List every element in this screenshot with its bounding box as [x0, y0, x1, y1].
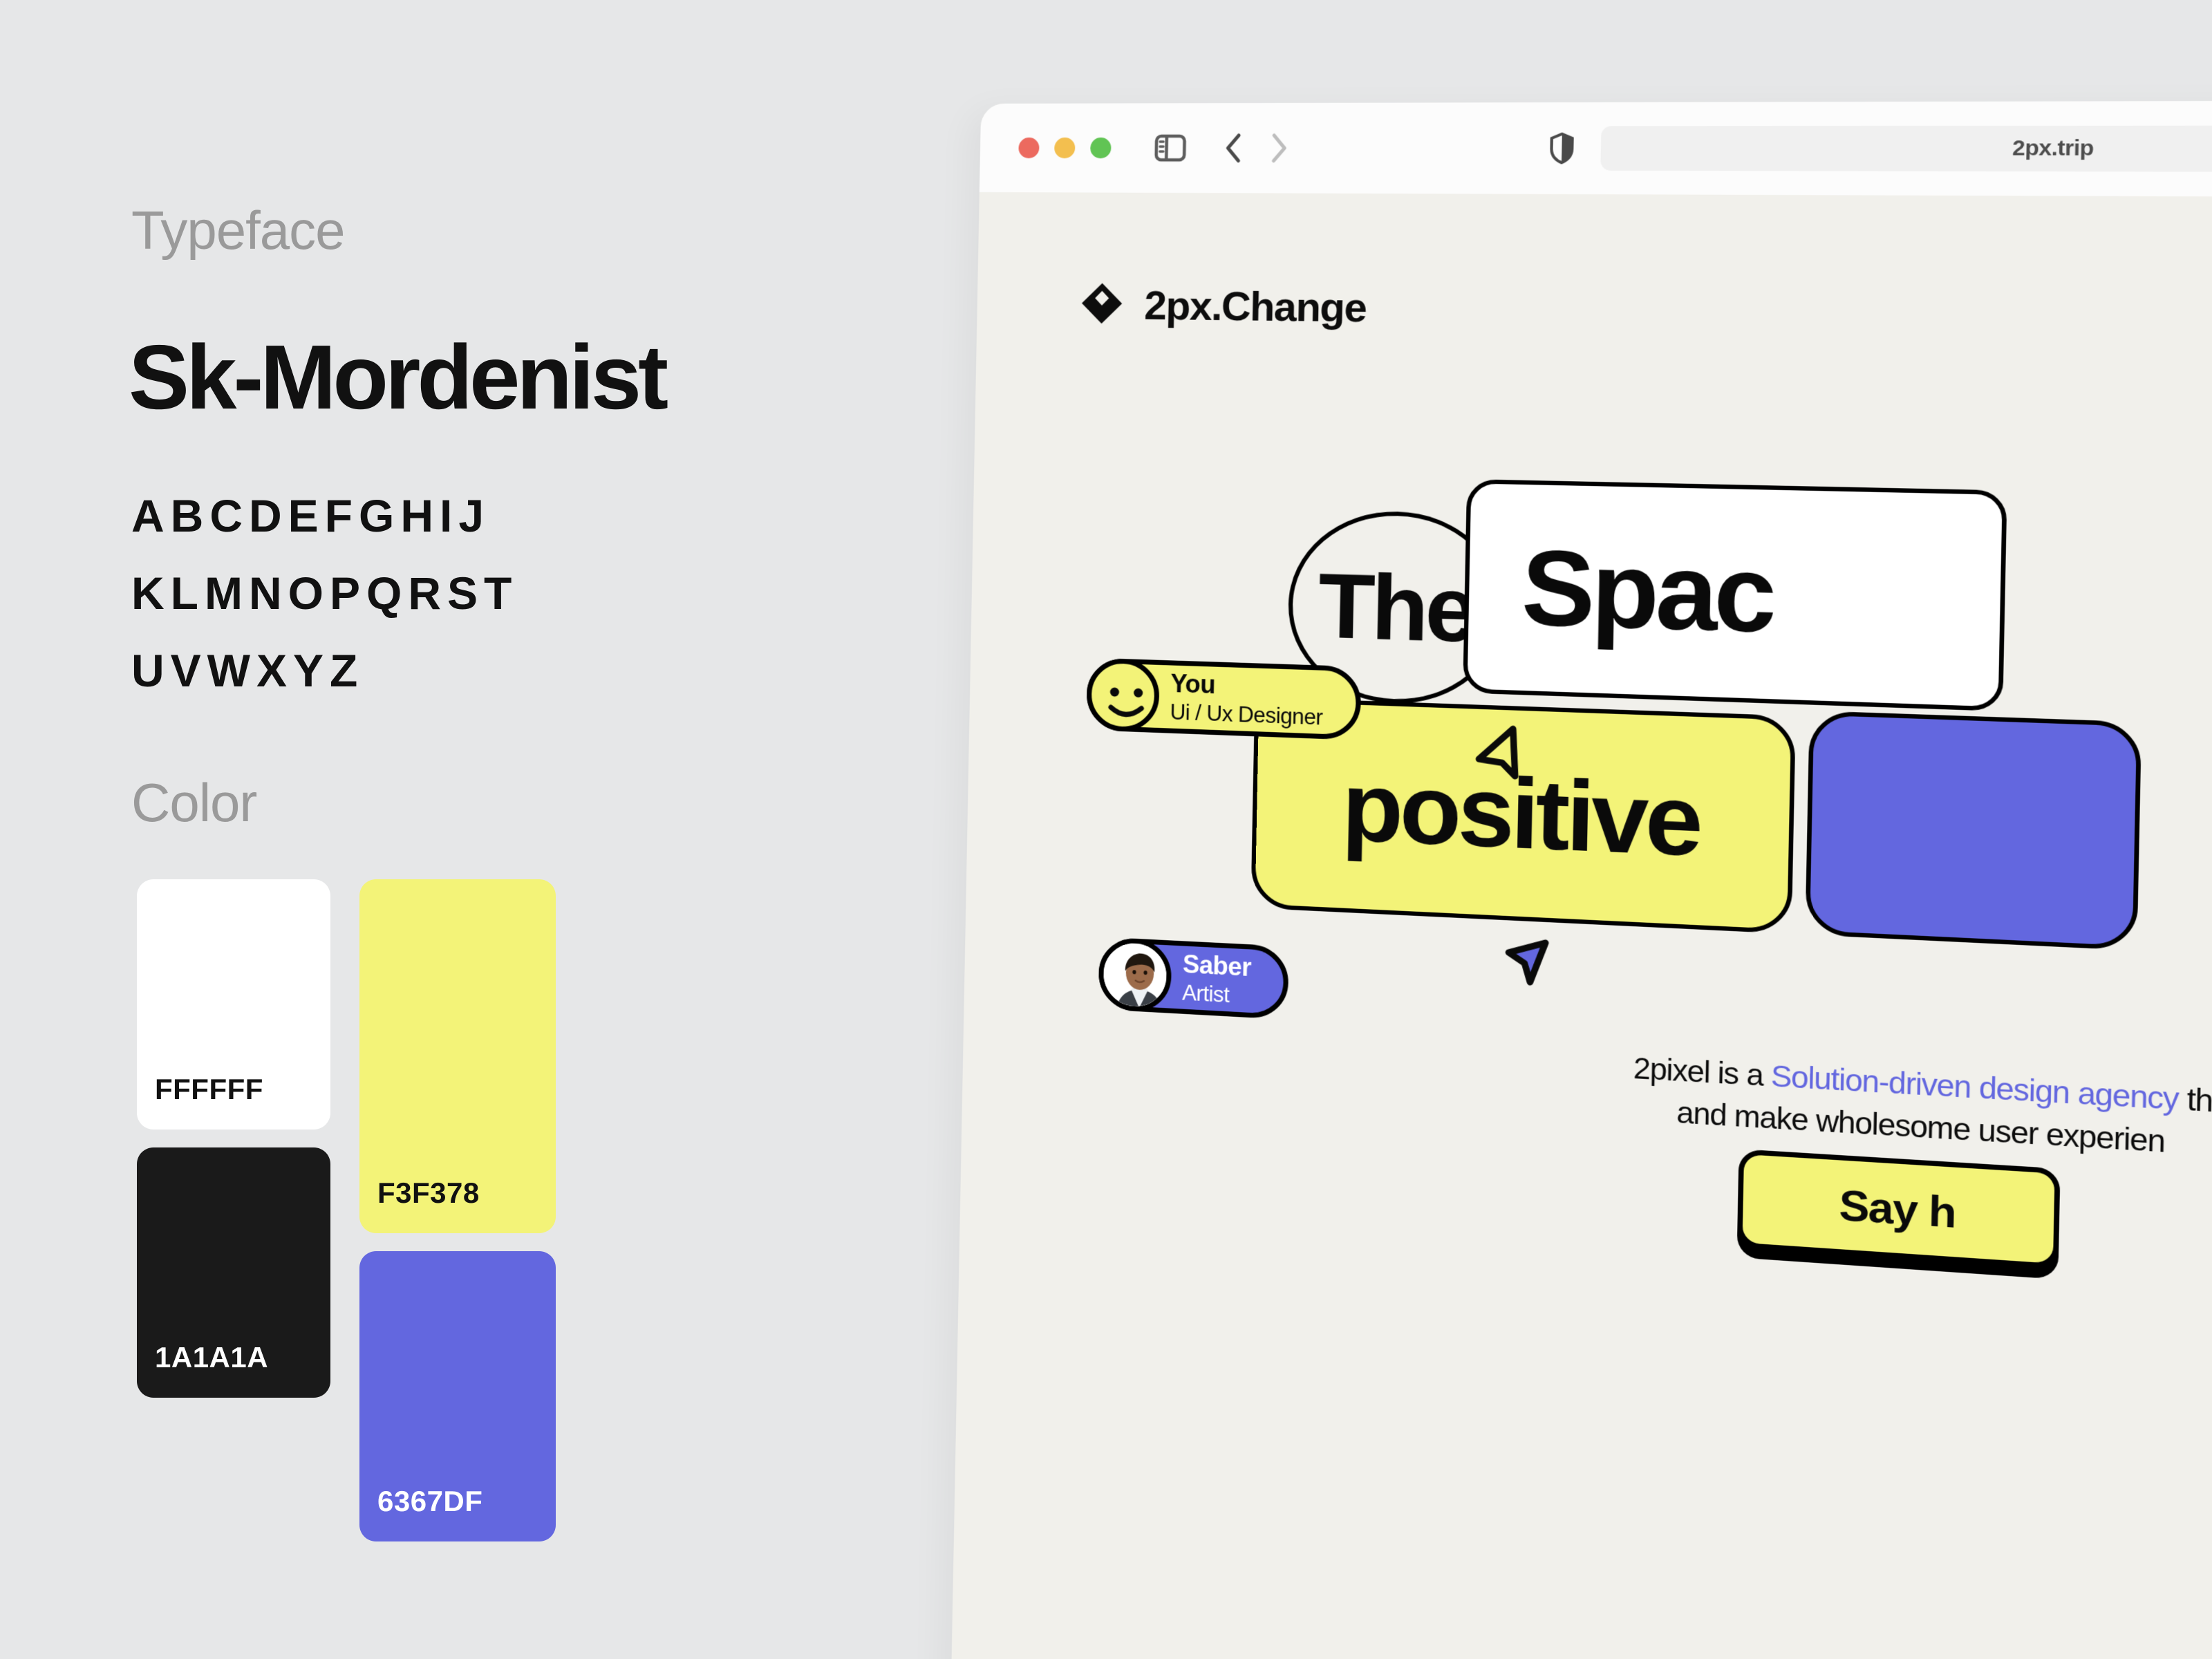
color-swatch-black[interactable]: 1A1A1A — [137, 1147, 330, 1398]
color-hex-label: F3F378 — [359, 1177, 480, 1233]
presence-badge-you[interactable]: You Ui / Ux Designer — [1086, 657, 1362, 740]
address-bar-url: 2px.trip — [2012, 136, 2094, 161]
alphabet-specimen: ABCDEFGHIJ KLMNOPQRST UVWXYZ — [131, 477, 892, 709]
zoom-window-button[interactable] — [1090, 138, 1112, 158]
presence-badge-role: Artist — [1182, 980, 1251, 1009]
traffic-lights — [1018, 138, 1111, 158]
presence-badge-name: You — [1170, 669, 1324, 704]
presence-badge-saber[interactable]: Saber Artist — [1098, 937, 1289, 1020]
hero-word-space: Spac — [1463, 479, 2007, 711]
color-section-label: Color — [131, 771, 256, 834]
cursor-pointer-saber-icon — [1485, 932, 1557, 1009]
alphabet-row: ABCDEFGHIJ — [131, 477, 892, 554]
style-guide-panel: Typeface Sk-Mordenist ABCDEFGHIJ KLMNOPQ… — [0, 0, 982, 1659]
sidebar-toggle-icon[interactable] — [1154, 134, 1186, 162]
alphabet-row: KLMNOPQRST — [131, 554, 892, 632]
color-hex-label: FFFFFF — [137, 1073, 263, 1130]
presence-badge-role: Ui / Ux Designer — [1170, 700, 1323, 731]
typeface-name: Sk-Mordenist — [129, 325, 665, 429]
web-page-content: 2px.Change Spac The positive You Ui / Ux… — [949, 192, 2212, 1659]
presence-badge-info: Saber Artist — [1182, 950, 1251, 1009]
tagline-lead: 2pixel is a — [1633, 1051, 1771, 1092]
nav-back-icon[interactable] — [1223, 132, 1245, 165]
color-hex-label: 6367DF — [359, 1485, 482, 1541]
address-bar[interactable]: 2px.trip — [1600, 125, 2212, 172]
minimize-window-button[interactable] — [1054, 138, 1076, 158]
alphabet-row: UVWXYZ — [131, 632, 892, 709]
hero-word-purple-block — [1805, 711, 2141, 950]
browser-window: 2px.trip 2px.Change Spac The positive — [949, 100, 2212, 1659]
tagline-tail: th — [2178, 1081, 2212, 1118]
color-swatch-yellow[interactable]: F3F378 — [359, 879, 556, 1233]
presence-badge-info: You Ui / Ux Designer — [1170, 669, 1323, 731]
typeface-section-label: Typeface — [131, 199, 345, 262]
shield-icon[interactable] — [1549, 133, 1575, 165]
presence-badge-name: Saber — [1183, 950, 1252, 983]
color-swatch-purple[interactable]: 6367DF — [359, 1251, 556, 1541]
color-swatch-grid: FFFFFF 1A1A1A F3F378 6367DF — [137, 879, 621, 1571]
browser-toolbar: 2px.trip — [980, 100, 2212, 198]
hero-word-cluster: Spac The positive — [949, 192, 2212, 1659]
cursor-pointer-you-icon — [1470, 722, 1537, 792]
color-swatch-white[interactable]: FFFFFF — [137, 879, 330, 1130]
nav-forward-icon[interactable] — [1268, 132, 1290, 165]
browser-mockup-stage: 2px.trip 2px.Change Spac The positive — [949, 100, 2212, 1659]
color-hex-label: 1A1A1A — [137, 1341, 268, 1398]
close-window-button[interactable] — [1018, 138, 1039, 158]
